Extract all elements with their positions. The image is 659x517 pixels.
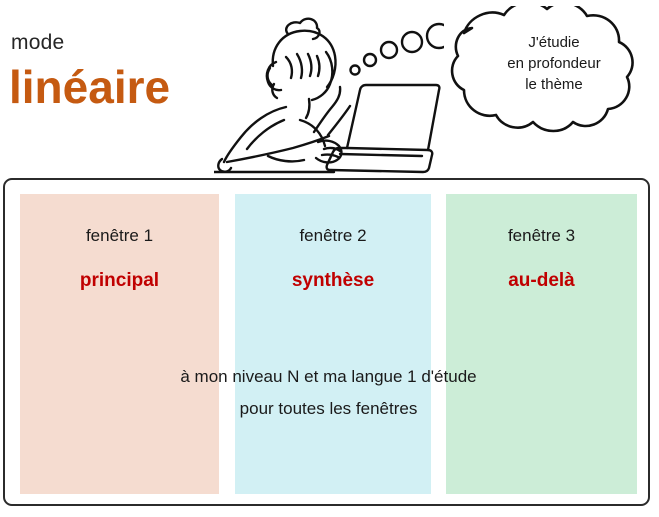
window-1-heading: fenêtre 1 xyxy=(20,226,219,246)
window-2-heading: fenêtre 2 xyxy=(235,226,431,246)
mode-title: linéaire xyxy=(9,60,170,114)
window-3-heading: fenêtre 3 xyxy=(446,226,637,246)
panel-caption-line-2: pour toutes les fenêtres xyxy=(20,393,637,425)
thought-bubble-line-3: le thème xyxy=(472,74,636,95)
header-area: mode linéaire xyxy=(0,0,659,178)
window-3-keyword: au-delà xyxy=(446,269,637,292)
window-2-keyword: synthèse xyxy=(235,269,431,292)
thought-bubble-line-2: en profondeur xyxy=(472,53,636,74)
window-1-keyword: principal xyxy=(20,269,219,292)
thought-bubble-text: J'étudie en profondeur le thème xyxy=(472,32,636,95)
mode-label: mode xyxy=(11,31,64,55)
panel-caption: à mon niveau N et ma langue 1 d'étude po… xyxy=(20,361,637,425)
thought-bubble-line-1: J'étudie xyxy=(472,32,636,53)
panel-caption-line-1: à mon niveau N et ma langue 1 d'étude xyxy=(20,361,637,393)
